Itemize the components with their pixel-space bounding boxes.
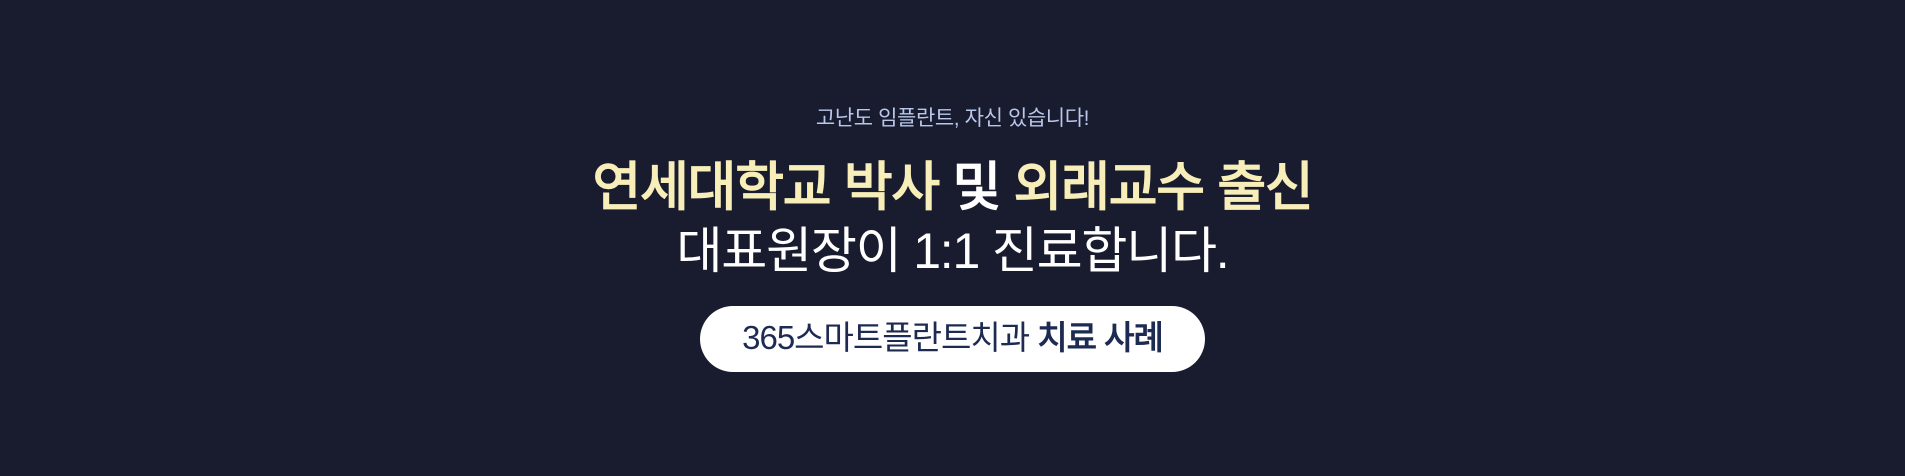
banner-headline: 연세대학교 박사 및 외래교수 출신 대표원장이 1:1 진료합니다.	[593, 159, 1313, 278]
treatment-cases-pill[interactable]: 365스마트플란트치과 치료 사례	[700, 306, 1205, 372]
pill-cases-label: 치료 사례	[1037, 319, 1163, 356]
headline-line-2: 대표원장이 1:1 진료합니다.	[593, 224, 1313, 278]
promo-banner: 고난도 임플란트, 자신 있습니다! 연세대학교 박사 및 외래교수 출신 대표…	[0, 0, 1905, 476]
headline-accent-credential: 연세대학교 박사	[593, 158, 939, 217]
banner-eyebrow-text: 고난도 임플란트, 자신 있습니다!	[816, 108, 1089, 129]
headline-accent-position: 외래교수 출신	[1014, 158, 1313, 217]
cta-row: 365스마트플란트치과 치료 사례	[0, 306, 1905, 372]
headline-conjunction: 및	[953, 158, 1001, 217]
pill-clinic-name: 365스마트플란트치과	[742, 319, 1029, 356]
headline-line-1: 연세대학교 박사 및 외래교수 출신	[593, 159, 1313, 216]
